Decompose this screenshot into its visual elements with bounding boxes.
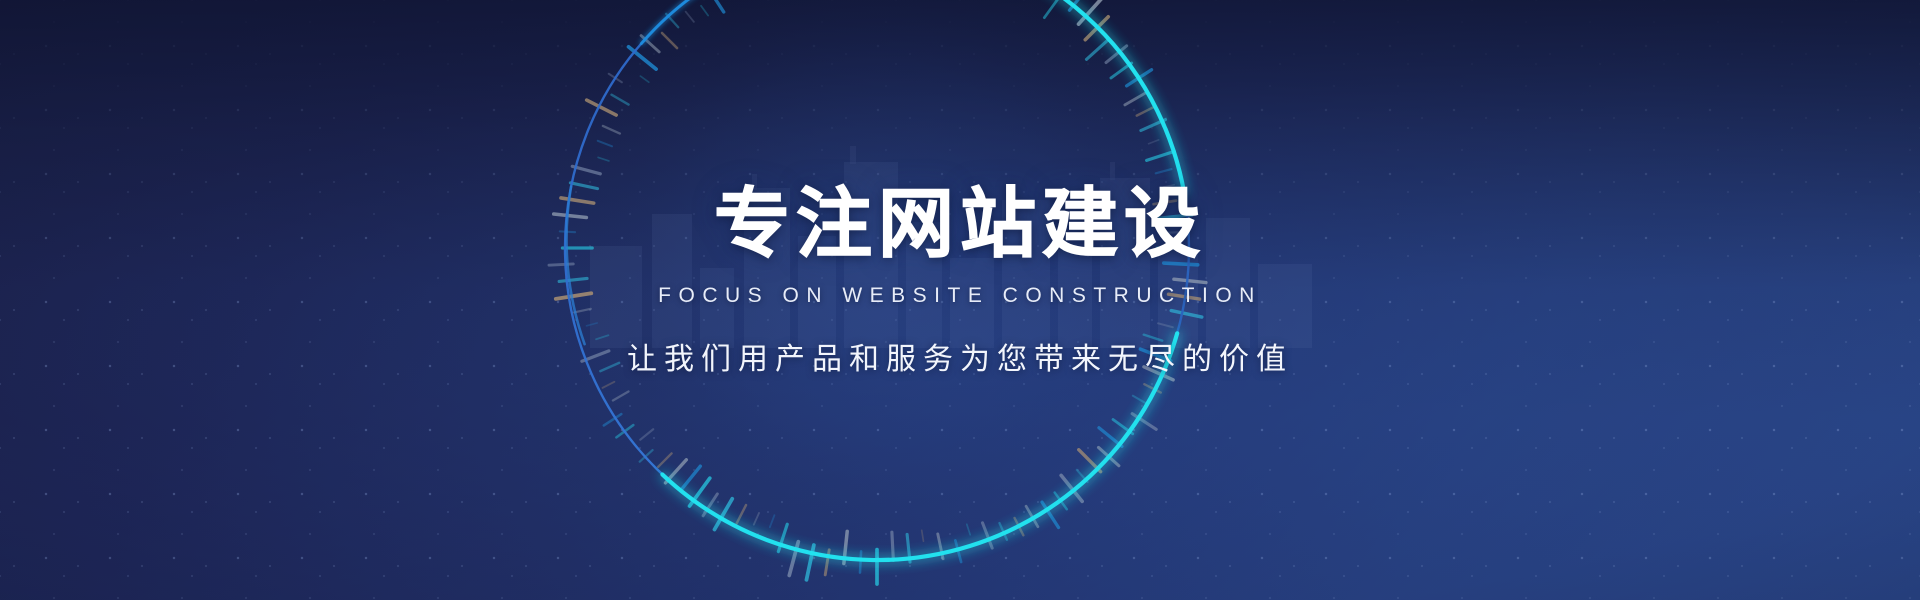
tick-mark	[860, 551, 861, 572]
tick-mark	[1168, 232, 1185, 233]
tick-mark	[1171, 311, 1202, 318]
circle-inner-halo	[577, 0, 1177, 548]
tick-mark	[1174, 279, 1206, 282]
hero-banner: 专注网站建设 FOCUS ON WEBSITE CONSTRUCTION 让我们…	[0, 0, 1920, 600]
tick-mark	[892, 532, 893, 560]
tick-mark	[549, 264, 573, 265]
tick-mark	[1164, 263, 1198, 265]
tick-mark	[641, 36, 659, 52]
circle-ring-svg	[517, 0, 1237, 600]
tick-mark	[825, 550, 829, 575]
